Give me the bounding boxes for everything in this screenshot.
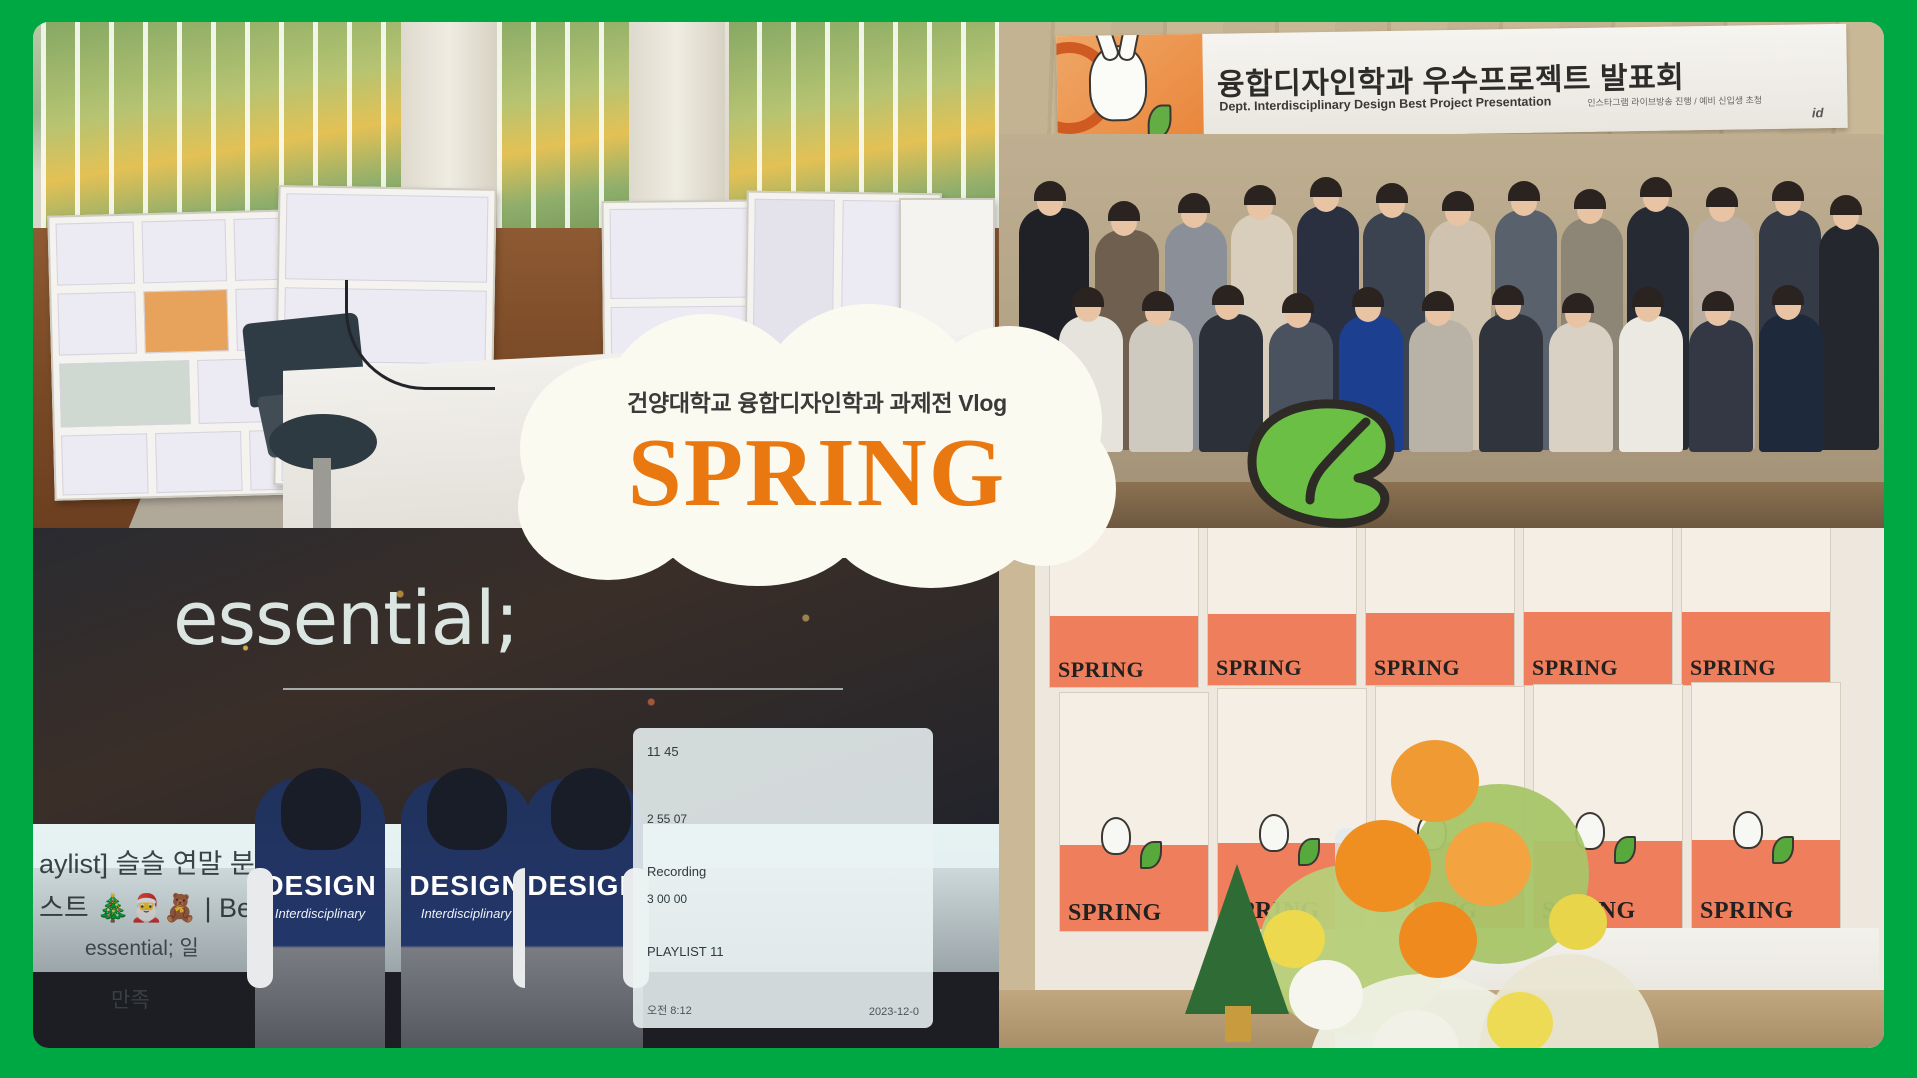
- leaf-icon: [1238, 396, 1410, 530]
- white-flower: [1289, 960, 1363, 1030]
- person-head: [1577, 196, 1603, 224]
- yellow-flower: [1549, 894, 1607, 950]
- yellow-flower: [1487, 992, 1553, 1048]
- person-head: [1247, 192, 1273, 220]
- person-head: [1313, 184, 1339, 212]
- person-head: [1145, 298, 1171, 326]
- orange-flower: [1399, 902, 1477, 978]
- person-head: [1425, 298, 1451, 326]
- title-cloud-badge: 건양대학교 융합디자인학과 과제전 Vlog SPRING: [518, 300, 1116, 582]
- stool: [269, 414, 377, 470]
- tree-pot: [1225, 1006, 1251, 1042]
- stage-step: [999, 482, 1884, 528]
- person-head: [1285, 300, 1311, 328]
- person-head: [1705, 298, 1731, 326]
- person-head: [1833, 202, 1859, 230]
- poster-title: SPRING: [1532, 655, 1618, 681]
- flower-arrangement: [1249, 724, 1679, 1048]
- recording-label: Recording: [647, 864, 706, 879]
- badge-title: SPRING: [628, 424, 1007, 521]
- bunny-mascot-icon: [1733, 811, 1763, 849]
- poster-title: SPRING: [1690, 655, 1776, 681]
- banner-graphic: [1056, 30, 1204, 140]
- phone-date: 2023-12-0: [869, 1006, 919, 1018]
- student-jacket: DESIGN Interdisciplinary: [255, 778, 385, 1048]
- person-head: [1495, 292, 1521, 320]
- hair: [427, 768, 507, 850]
- event-banner: 융합디자인학과 우수프로젝트 발표회 Dept. Interdisciplina…: [1056, 24, 1848, 140]
- person-head: [1037, 188, 1063, 216]
- person-head: [1355, 294, 1381, 322]
- person-head: [1445, 198, 1471, 226]
- orange-flower: [1445, 822, 1531, 906]
- person-head: [1215, 292, 1241, 320]
- sleeve: [247, 868, 273, 988]
- spring-poster: SPRING: [1207, 528, 1357, 686]
- person: [1479, 314, 1543, 452]
- poster-title: SPRING: [1058, 657, 1144, 683]
- banner-logo: id: [1812, 105, 1824, 120]
- spring-poster: SPRING: [1691, 682, 1841, 930]
- banner-subtitle-ko: 인스타그램 라이브방송 진행 / 예비 신입생 초청: [1587, 93, 1762, 109]
- person-head: [1565, 300, 1591, 328]
- person: [1759, 314, 1823, 452]
- poster-title: SPRING: [1374, 655, 1460, 681]
- bunny-mascot-icon: [1088, 45, 1147, 122]
- poster-title: SPRING: [1068, 900, 1162, 927]
- poster-title: SPRING: [1700, 898, 1794, 925]
- badge-subtitle: 건양대학교 융합디자인학과 과제전 Vlog: [627, 384, 1007, 418]
- spring-poster: SPRING: [1523, 528, 1673, 686]
- person-head: [1709, 194, 1735, 222]
- orange-flower: [1335, 820, 1431, 912]
- group-photo: 융합디자인학과 우수프로젝트 발표회 Dept. Interdisciplina…: [999, 22, 1884, 528]
- playlist-label: PLAYLIST 11: [647, 944, 724, 959]
- bunny-mascot-icon: [1101, 817, 1131, 855]
- student-jacket: DESIGN: [525, 778, 643, 1048]
- phone-clock: 오전 8:12: [647, 1002, 692, 1018]
- person-head: [1775, 188, 1801, 216]
- spring-poster: SPRING: [1681, 528, 1831, 686]
- hair: [551, 768, 631, 850]
- spring-poster: SPRING: [1365, 528, 1515, 686]
- jacket-design-text: DESIGN: [255, 870, 385, 902]
- poster-wall-photo: SPRING SPRING SPRING SPRING SPRING: [999, 528, 1884, 1048]
- auditorium-photo: essential; aylist] 슬슬 연말 분위기 스트 🎄🎅🧸 | Be…: [33, 528, 999, 1048]
- person: [1409, 320, 1473, 452]
- orange-flower: [1391, 740, 1479, 822]
- student-crowd: [999, 134, 1884, 528]
- video-thumbnail: 융합디자인학과 우수프로젝트 발표회 Dept. Interdisciplina…: [0, 0, 1917, 1078]
- person: [1549, 322, 1613, 452]
- person: [1129, 320, 1193, 452]
- person-head: [1635, 294, 1661, 322]
- jacket-design-text: DESIGN: [401, 870, 531, 902]
- track-duration: 2 55 07: [647, 812, 687, 826]
- screen-essential-text: essential;: [173, 576, 518, 662]
- phone-screen-overlay: 11 45 2 55 07 Recording 3 00 00 PLAYLIST…: [633, 728, 933, 1028]
- badge-text-group: 건양대학교 융합디자인학과 과제전 Vlog SPRING: [518, 300, 1116, 582]
- screen-divider: [283, 688, 843, 690]
- jacket-script-text: Interdisciplinary: [255, 906, 385, 921]
- person-head: [1775, 292, 1801, 320]
- poster-title: SPRING: [1216, 655, 1302, 681]
- person-head: [1181, 200, 1207, 228]
- person: [1819, 224, 1879, 450]
- jacket-script-text: Interdisciplinary: [401, 906, 531, 921]
- person-head: [1111, 208, 1137, 236]
- person-head: [1643, 184, 1669, 212]
- christmas-tree: [1185, 864, 1289, 1014]
- person: [1619, 316, 1683, 452]
- student-jacket: DESIGN Interdisciplinary: [401, 778, 531, 1048]
- person-head: [1511, 188, 1537, 216]
- person: [1689, 320, 1753, 452]
- recording-time: 3 00 00: [647, 892, 687, 906]
- hair: [281, 768, 361, 850]
- phone-time: 11 45: [647, 744, 679, 759]
- person-head: [1379, 190, 1405, 218]
